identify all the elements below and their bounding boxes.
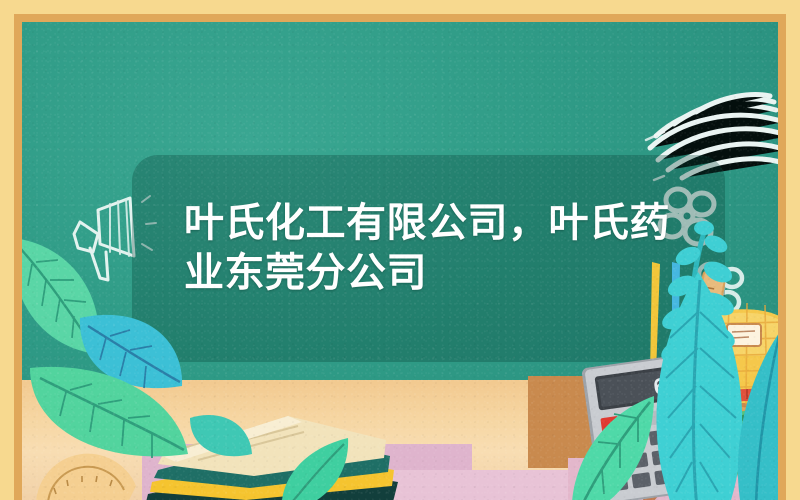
desk-surface <box>22 380 778 500</box>
page-title: 叶氏化工有限公司，叶氏药业东莞分公司 <box>184 198 684 298</box>
desk-wood-right <box>528 376 778 468</box>
desk-mat-pink-right <box>568 458 778 500</box>
chalkboard: 叶氏化工有限公司，叶氏药业东莞分公司 <box>22 22 778 500</box>
banner-image: 叶氏化工有限公司，叶氏药业东莞分公司 <box>0 0 800 500</box>
